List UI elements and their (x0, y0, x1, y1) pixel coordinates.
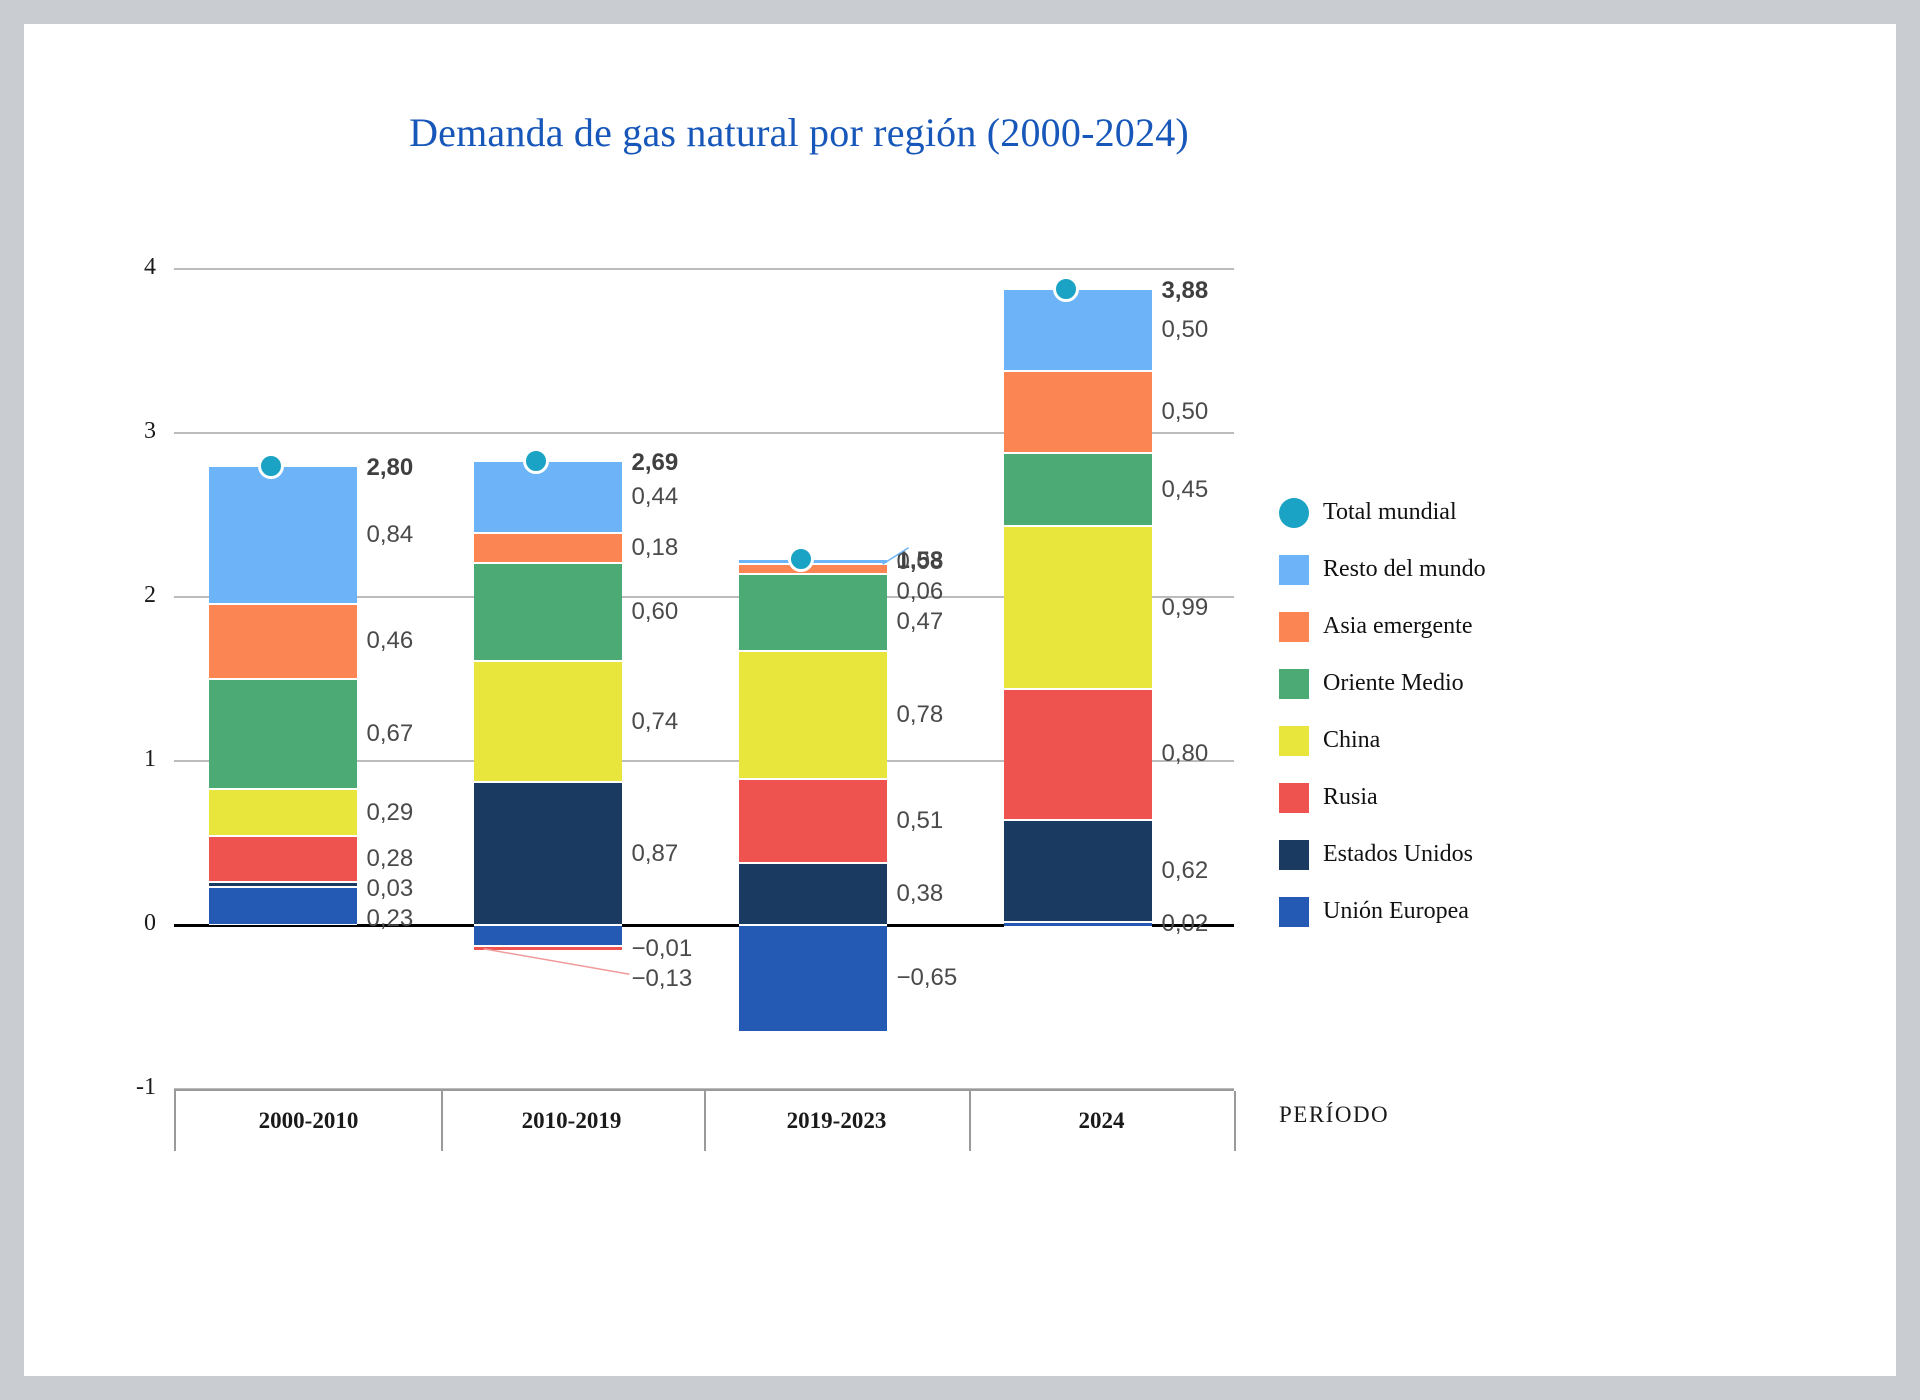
segment-value-label: 0,02 (1162, 910, 1209, 938)
segment-value-label: 0,51 (897, 807, 944, 835)
bar-segment[interactable] (739, 779, 887, 863)
legend-square-icon (1279, 897, 1309, 927)
total-value-label: 2,80 (367, 454, 414, 482)
bar-segment[interactable] (1004, 453, 1152, 527)
bar-segment[interactable] (739, 925, 887, 1032)
legend-label: Total mundial (1323, 499, 1457, 526)
bar-segment[interactable] (474, 782, 622, 925)
legend-square-icon (1279, 726, 1309, 756)
legend-item-oriente-medio[interactable]: Oriente Medio (1279, 655, 1579, 712)
x-axis-category-2000-2010[interactable]: 2000-2010 (174, 1091, 443, 1151)
legend-item-china[interactable]: China (1279, 712, 1579, 769)
segment-value-label: 0,03 (367, 875, 414, 903)
legend-circle-icon (1279, 498, 1309, 528)
bar-segment[interactable] (739, 564, 887, 574)
segment-value-label: 0,06 (897, 578, 944, 606)
legend-item-unión-europea[interactable]: Unión Europea (1279, 883, 1579, 940)
y-axis-tick: 0 (96, 910, 156, 937)
legend-item-asia-emergente[interactable]: Asia emergente (1279, 598, 1579, 655)
segment-value-label: 0,03 (897, 548, 944, 576)
segment-value-label: −0,01 (632, 935, 693, 963)
bar-segment[interactable] (1004, 689, 1152, 820)
chart-canvas: Demanda de gas natural por región (2000-… (24, 24, 1896, 1376)
legend-label: Oriente Medio (1323, 670, 1464, 697)
legend-square-icon (1279, 783, 1309, 813)
bar-group[interactable] (209, 269, 357, 1089)
x-axis-category-2010-2019[interactable]: 2010-2019 (439, 1091, 706, 1151)
segment-value-label: 0,23 (367, 905, 414, 933)
bar-segment[interactable] (1004, 289, 1152, 371)
bar-segment[interactable] (209, 679, 357, 789)
segment-value-label: 0,67 (367, 720, 414, 748)
bar-segment[interactable] (739, 863, 887, 925)
segment-value-label: 0,18 (632, 534, 679, 562)
bar-segment[interactable] (474, 925, 622, 946)
bar-segment[interactable] (1004, 922, 1152, 927)
bar-segment[interactable] (209, 836, 357, 882)
bar-segment[interactable] (739, 651, 887, 779)
legend-label: Estados Unidos (1323, 841, 1473, 868)
legend-square-icon (1279, 840, 1309, 870)
bar-segment[interactable] (209, 882, 357, 887)
bar-segment[interactable] (474, 563, 622, 661)
bar-segment[interactable] (474, 533, 622, 563)
bar-segment[interactable] (739, 574, 887, 651)
segment-value-label: 0,78 (897, 701, 944, 729)
legend-label: Resto del mundo (1323, 556, 1486, 583)
segment-value-label: 0,46 (367, 627, 414, 655)
legend-item-resto-del-mundo[interactable]: Resto del mundo (1279, 541, 1579, 598)
segment-value-label: 0,44 (632, 483, 679, 511)
legend-label: Unión Europea (1323, 898, 1469, 925)
segment-value-label: 0,50 (1162, 398, 1209, 426)
plot-area: 43210-12,800,840,460,670,290,280,030,232… (174, 269, 1234, 1089)
bar-segment[interactable] (209, 789, 357, 837)
total-value-label: 2,69 (632, 449, 679, 477)
segment-value-label: 0,84 (367, 521, 414, 549)
bar-group[interactable] (474, 269, 622, 1089)
segment-value-label: 0,29 (367, 799, 414, 827)
segment-value-label: −0,13 (632, 965, 693, 993)
legend-square-icon (1279, 669, 1309, 699)
bar-segment[interactable] (209, 604, 357, 679)
bar-segment[interactable] (1004, 371, 1152, 453)
total-marker-dot[interactable] (1053, 276, 1079, 302)
y-axis-tick: -1 (96, 1074, 156, 1101)
segment-value-label: 0,80 (1162, 740, 1209, 768)
bar-group[interactable] (1004, 269, 1152, 1089)
legend-item-total-mundial[interactable]: Total mundial (1279, 484, 1579, 541)
bar-segment[interactable] (474, 661, 622, 782)
legend-label: China (1323, 727, 1380, 754)
segment-value-label: 0,74 (632, 708, 679, 736)
page-title: Demanda de gas natural por región (2000-… (24, 109, 1574, 156)
x-axis-category-2019-2023[interactable]: 2019-2023 (704, 1091, 971, 1151)
y-axis-tick: 4 (96, 254, 156, 281)
x-axis-label: PERÍODO (1279, 1102, 1389, 1128)
segment-value-label: 0,47 (897, 608, 944, 636)
segment-value-label: 0,99 (1162, 594, 1209, 622)
y-axis-tick: 3 (96, 418, 156, 445)
total-marker-dot[interactable] (258, 453, 284, 479)
segment-value-label: 0,87 (632, 840, 679, 868)
bar-segment[interactable] (1004, 526, 1152, 688)
bar-segment[interactable] (1004, 820, 1152, 922)
total-marker-dot[interactable] (523, 448, 549, 474)
segment-value-label: 0,38 (897, 880, 944, 908)
y-axis-tick: 1 (96, 746, 156, 773)
y-axis-tick: 2 (96, 582, 156, 609)
legend-square-icon (1279, 612, 1309, 642)
legend-item-estados-unidos[interactable]: Estados Unidos (1279, 826, 1579, 883)
legend-item-rusia[interactable]: Rusia (1279, 769, 1579, 826)
legend-label: Rusia (1323, 784, 1378, 811)
bar-segment[interactable] (209, 466, 357, 604)
chart-legend: Total mundialResto del mundoAsia emergen… (1279, 484, 1579, 940)
segment-value-label: 0,60 (632, 598, 679, 626)
segment-value-label: 0,45 (1162, 476, 1209, 504)
bar-segment[interactable] (474, 946, 622, 951)
segment-value-label: 0,28 (367, 845, 414, 873)
x-axis: 2000-20102010-20192019-20232024 (174, 1089, 1234, 1151)
bar-segment[interactable] (474, 461, 622, 533)
legend-square-icon (1279, 555, 1309, 585)
bar-segment[interactable] (209, 887, 357, 925)
segment-value-label: −0,65 (897, 964, 958, 992)
total-marker-dot[interactable] (788, 546, 814, 572)
segment-value-label: 0,50 (1162, 316, 1209, 344)
x-axis-category-2024[interactable]: 2024 (969, 1091, 1236, 1151)
segment-value-label: 0,62 (1162, 857, 1209, 885)
total-value-label: 3,88 (1162, 277, 1209, 305)
legend-label: Asia emergente (1323, 613, 1473, 640)
bar-group[interactable] (739, 269, 887, 1089)
